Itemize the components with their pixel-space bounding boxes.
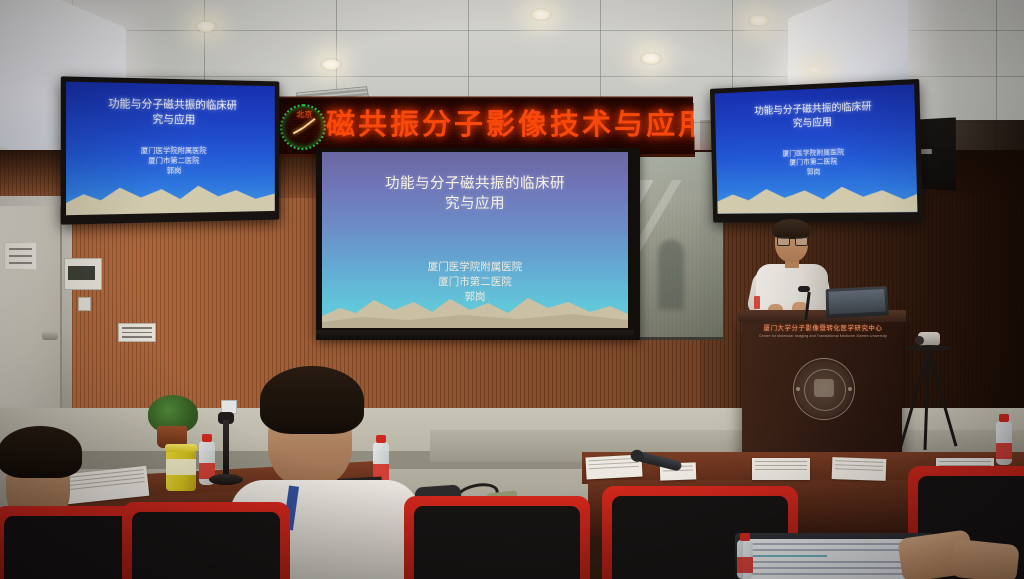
- main-projection-screen: 功能与分子磁共振的临床研 究与应用 厦门医学院附属医院 厦门市第二医院 郭岗: [322, 152, 628, 328]
- audience-hand-right: [950, 539, 1020, 579]
- clock-hand-hour: [302, 118, 315, 129]
- audience-hair: [260, 366, 364, 434]
- slide-org1: 厦门医学院附属医院: [428, 261, 523, 273]
- right-monitor-affiliation: 厦门医学院附属医院 厦门市第二医院 郭岗: [731, 146, 899, 179]
- slide-mountain-graphic: [66, 176, 275, 215]
- lecture-hall-photo: 北京 磁共振分子影像技术与应用 功能与分子磁共振的临床研 究与应用 厦门医学院附…: [0, 0, 1024, 579]
- podium-english-text: Center for Molecular Imaging and Transla…: [752, 334, 894, 339]
- slide-title-line1: 功能与分子磁共振的临床研: [385, 176, 565, 192]
- control-panel-screen: [68, 266, 95, 280]
- light-switch[interactable]: [78, 297, 91, 311]
- slide-title-line2: 究与应用: [445, 196, 505, 212]
- audience-hair: [0, 426, 82, 478]
- door-notice-paper: [4, 242, 37, 270]
- podium-chinese-text: 厦门大学分子影像暨转化医学研究中心: [752, 325, 894, 333]
- emblem-core: [814, 379, 834, 397]
- slide-mountain-graphic: [717, 176, 918, 214]
- water-bottle: [737, 540, 753, 579]
- right-monitor-title: 功能与分子磁共振的临床研 究与应用: [730, 99, 898, 133]
- paper-sheet: [832, 457, 887, 481]
- left-monitor-title: 功能与分子磁共振的临床研 究与应用: [84, 97, 259, 129]
- downlight-icon: [320, 58, 342, 71]
- downlight-icon: [804, 63, 826, 76]
- tripod-leg: [927, 350, 957, 447]
- gooseneck-desk-microphone: [223, 420, 229, 478]
- slide-org2: 厦门市第二医院: [438, 276, 512, 288]
- chair-left-back: [4, 516, 134, 579]
- slide-title: 功能与分子磁共振的临床研 究与应用: [338, 174, 612, 214]
- glasses-icon: [777, 237, 806, 244]
- led-banner-text: 磁共振分子影像技术与应用: [326, 106, 689, 144]
- downlight-icon: [195, 20, 217, 33]
- downlight-icon: [530, 8, 552, 21]
- right-monitor-slide: 功能与分子磁共振的临床研 究与应用 厦门医学院附属医院 厦门市第二医院 郭岗: [715, 84, 918, 214]
- right-wall-monitor: 功能与分子磁共振的临床研 究与应用 厦门医学院附属医院 厦门市第二医院 郭岗: [710, 79, 923, 223]
- yellow-thermos-mug: [166, 449, 196, 491]
- screen-bottom-shadow: [316, 330, 634, 338]
- slide-affiliation: 厦门医学院附属医院 厦门市第二医院 郭岗: [338, 260, 612, 305]
- presenter-laptop: [826, 286, 889, 318]
- led-clock-label: 北京: [288, 110, 320, 119]
- emblem-dot: [848, 387, 852, 391]
- slide-speaker-name: 郭岗: [465, 291, 486, 303]
- laptop-screen: [829, 289, 886, 314]
- glass-reflection-highlight: [640, 180, 710, 320]
- downlight-icon: [640, 52, 662, 65]
- downlight-icon: [748, 14, 770, 27]
- paper-sheet: [752, 458, 810, 480]
- emblem-dot: [796, 387, 800, 391]
- presenter-hair: [773, 219, 810, 239]
- room-door[interactable]: [0, 206, 62, 411]
- water-bottle: [996, 421, 1012, 465]
- left-monitor-affiliation: 厦门医学院附属医院 厦门市第二医院 郭岗: [84, 146, 259, 177]
- chair-center-right-back: [414, 506, 580, 579]
- door-handle[interactable]: [42, 331, 58, 340]
- camera-lens-icon: [915, 336, 924, 345]
- left-wall-monitor: 功能与分子磁共振的临床研 究与应用 厦门医学院附属医院 厦门市第二医院 郭岗: [61, 76, 280, 224]
- chair-center-left-back: [132, 512, 280, 579]
- video-camera-on-tripod: [900, 332, 958, 452]
- wall-sign: [118, 323, 156, 342]
- left-monitor-slide: 功能与分子磁共振的临床研 究与应用 厦门医学院附属医院 厦门市第二医院 郭岗: [66, 82, 275, 216]
- microphone-base: [209, 474, 243, 485]
- clock-hand-minute: [293, 127, 304, 134]
- podium-microphone-head: [798, 286, 810, 292]
- presenter-badge: [754, 296, 760, 309]
- university-emblem: [793, 358, 855, 420]
